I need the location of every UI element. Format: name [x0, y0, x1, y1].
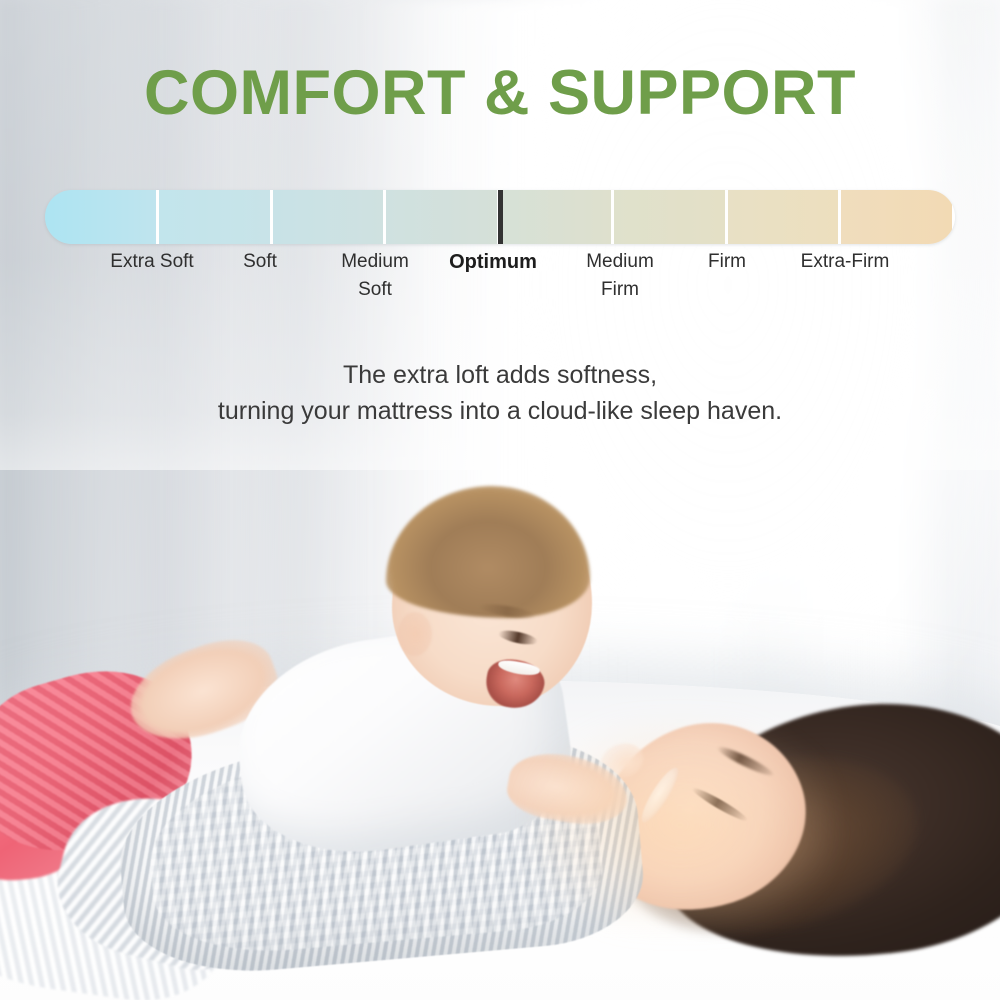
page-title: COMFORT & SUPPORT — [0, 62, 1000, 125]
firmness-label-optimum[interactable]: Optimum — [449, 248, 537, 277]
firmness-segment-5[interactable] — [500, 190, 614, 244]
firmness-segment-2[interactable] — [159, 190, 273, 244]
firmness-label-extra-firm[interactable]: Extra-Firm — [801, 248, 890, 276]
firmness-scale-bar[interactable] — [45, 190, 955, 244]
firmness-marker — [498, 190, 503, 244]
firmness-scale-labels: Extra SoftSoftMedium SoftOptimumMedium F… — [0, 248, 1000, 328]
firmness-label-firm[interactable]: Firm — [708, 248, 746, 276]
firmness-segment-4[interactable] — [386, 190, 500, 244]
firmness-segment-7[interactable] — [728, 190, 842, 244]
promo-page: COMFORT & SUPPORT Extra SoftSoftMedium S… — [0, 0, 1000, 1000]
firmness-label-soft[interactable]: Soft — [243, 248, 277, 276]
firmness-segment-3[interactable] — [273, 190, 387, 244]
firmness-label-medium-soft[interactable]: Medium Soft — [341, 248, 409, 303]
firmness-segment-6[interactable] — [614, 190, 728, 244]
firmness-label-medium-firm[interactable]: Medium Firm — [586, 248, 654, 303]
firmness-label-extra-soft[interactable]: Extra Soft — [110, 248, 193, 276]
firmness-scale — [45, 190, 955, 244]
firmness-segment-1[interactable] — [45, 190, 159, 244]
caption-text: The extra loft adds softness, turning yo… — [0, 358, 1000, 429]
firmness-segment-8[interactable] — [841, 190, 955, 244]
content-overlay: COMFORT & SUPPORT Extra SoftSoftMedium S… — [0, 0, 1000, 1000]
